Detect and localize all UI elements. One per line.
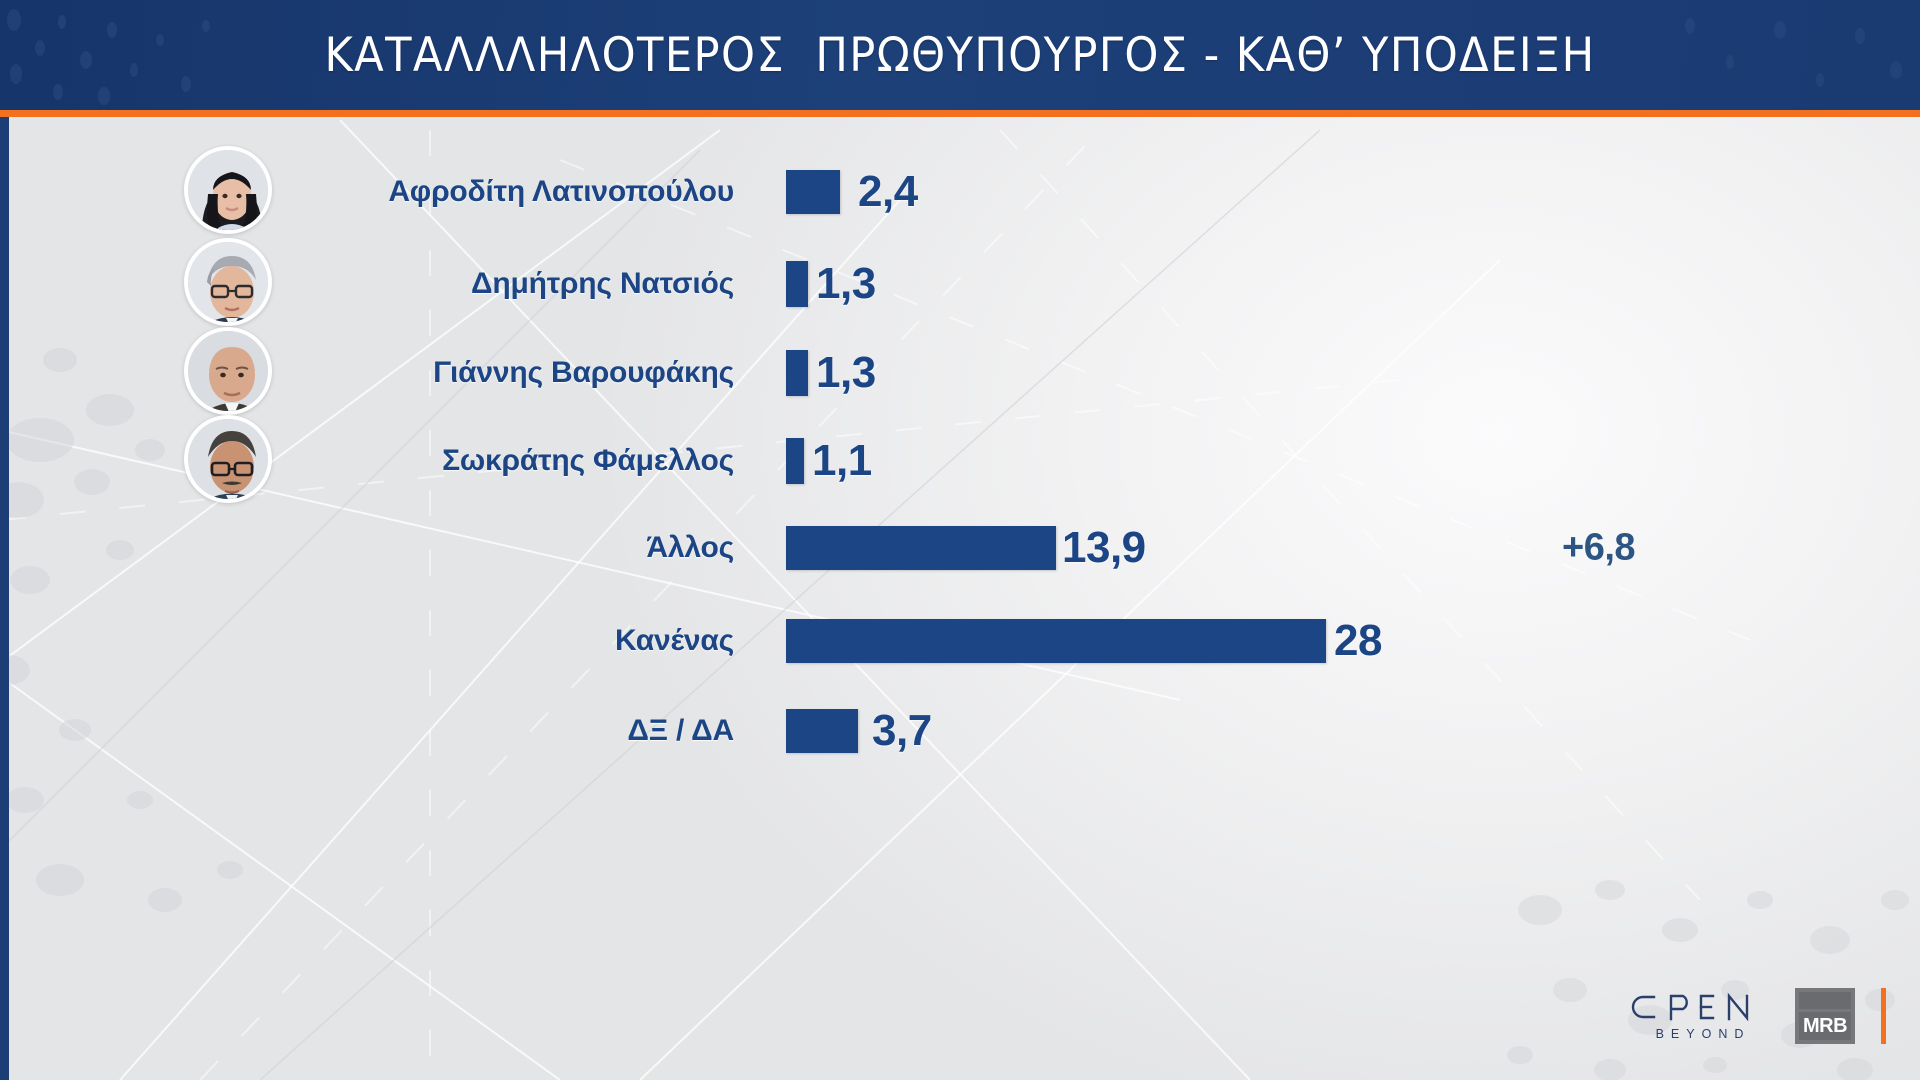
- value-label: 2,4: [858, 167, 918, 217]
- portrait-man-glasses-moustache: [188, 419, 272, 503]
- chart-row: Δημήτρης Νατσιός 1,3: [0, 238, 1920, 330]
- open-logo-letters: [1631, 992, 1769, 1022]
- chart-row: Αφροδίτη Λατινοπούλου 2,4: [0, 146, 1920, 238]
- value-label: 1,3: [816, 348, 876, 398]
- delta-annotation: +6,8: [1562, 527, 1635, 570]
- open-beyond-logo: BEYOND: [1631, 992, 1769, 1041]
- portrait-woman-dark-hair: [188, 150, 272, 234]
- value-label: 28: [1334, 616, 1382, 666]
- value-bar: [786, 709, 858, 753]
- chart-row: ΔΞ / ΔΑ 3,7: [0, 685, 1920, 777]
- page-title: ΚΑΤΑΛΛΛΗΛΟΤΕΡΟΣ ΠΡΩΘΥΠΟΥΡΓΟΣ - ΚΑΘ’ ΥΠΟΔ…: [77, 0, 1843, 110]
- value-bar: [786, 619, 1326, 663]
- mrb-logo-text: MRB: [1799, 1012, 1851, 1040]
- avatar: [184, 415, 272, 503]
- avatar: [184, 238, 272, 326]
- bar-chart: Αφροδίτη Λατινοπούλου 2,4 Δημήτρης Νατσι…: [0, 117, 1920, 917]
- candidate-name: Δημήτρης Νατσιός: [471, 267, 734, 301]
- candidate-name: Αφροδίτη Λατινοπούλου: [388, 175, 734, 209]
- chart-row: Άλλος 13,9 +6,8: [0, 502, 1920, 594]
- candidate-name: Σωκράτης Φάμελλος: [442, 444, 734, 478]
- category-label: Άλλος: [646, 531, 734, 565]
- header-accent-underline: [0, 110, 1920, 117]
- value-label: 1,3: [816, 259, 876, 309]
- portrait-man-bald: [188, 331, 272, 415]
- chart-row: Κανένας 28: [0, 595, 1920, 687]
- avatar: [184, 146, 272, 234]
- category-label: Κανένας: [615, 624, 734, 658]
- avatar: [184, 327, 272, 415]
- value-label: 3,7: [872, 706, 932, 756]
- value-bar: [786, 526, 1056, 570]
- candidate-name: Γιάννης Βαρουφάκης: [433, 356, 734, 390]
- chart-row: Σωκράτης Φάμελλος 1,1: [0, 415, 1920, 507]
- value-label: 13,9: [1062, 523, 1146, 573]
- footer-accent-tick: [1881, 988, 1886, 1044]
- open-logo-tagline: BEYOND: [1650, 1027, 1751, 1041]
- open-logo-wordmark: [1631, 992, 1769, 1022]
- footer-logos: BEYOND MRB: [1631, 986, 1886, 1046]
- value-bar: [786, 170, 840, 214]
- value-bar: [786, 261, 808, 307]
- mrb-logo: MRB: [1795, 988, 1855, 1044]
- value-bar: [786, 350, 808, 396]
- portrait-man-grey-hair-glasses: [188, 242, 272, 326]
- category-label: ΔΞ / ΔΑ: [627, 714, 734, 748]
- value-label: 1,1: [812, 436, 872, 486]
- value-bar: [786, 438, 804, 484]
- mrb-logo-bar: [1799, 992, 1851, 1009]
- chart-row: Γιάννης Βαρουφάκης 1,3: [0, 327, 1920, 419]
- header-bar: ΚΑΤΑΛΛΛΗΛΟΤΕΡΟΣ ΠΡΩΘΥΠΟΥΡΓΟΣ - ΚΑΘ’ ΥΠΟΔ…: [0, 0, 1920, 110]
